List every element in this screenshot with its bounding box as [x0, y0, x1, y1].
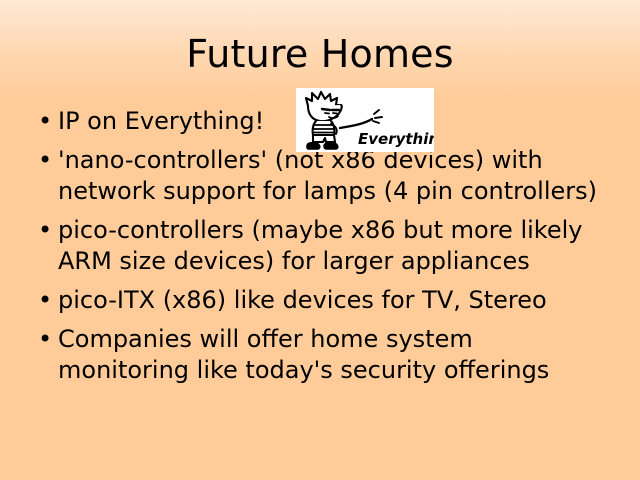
calvin-everything-decal-image: Everything [296, 88, 434, 152]
list-item-text: 'nano-controllers' (not x86 devices) wit… [58, 145, 610, 207]
list-item: • pico-ITX (x86) like devices for TV, St… [34, 285, 610, 316]
bullet-icon: • [38, 324, 52, 355]
bullet-icon: • [38, 215, 52, 246]
list-item: • Companies will offer home system monit… [34, 324, 610, 386]
list-item: • pico-controllers (maybe x86 but more l… [34, 215, 610, 277]
bullet-icon: • [38, 106, 52, 137]
list-item: • 'nano-controllers' (not x86 devices) w… [34, 145, 610, 207]
list-item-text: pico-ITX (x86) like devices for TV, Ster… [58, 285, 610, 316]
list-item-text: pico-controllers (maybe x86 but more lik… [58, 215, 610, 277]
page-title: Future Homes [0, 32, 640, 76]
calvin-figure-icon: Everything [296, 88, 434, 152]
slide-canvas: Future Homes • IP on Everything! • 'nano… [0, 0, 640, 480]
bullet-icon: • [38, 285, 52, 316]
list-item-text: Companies will offer home system monitor… [58, 324, 610, 386]
decal-caption: Everything [358, 130, 434, 148]
bullet-icon: • [38, 145, 52, 176]
